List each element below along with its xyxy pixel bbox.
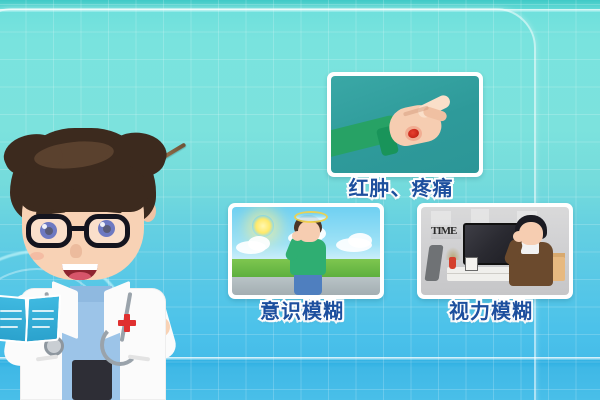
glasses-lens-right [84, 214, 130, 248]
book-text-line [0, 318, 22, 320]
symptom-card-left[interactable] [228, 203, 384, 299]
doctor-character [0, 128, 185, 400]
tv-stand [447, 267, 513, 281]
book-text-line [32, 318, 54, 320]
man-hand-rubbing-eye [513, 231, 525, 242]
symptom-label-left: 意识模糊 [228, 295, 376, 324]
scene-hand-sting [331, 76, 479, 173]
sun-icon [252, 215, 274, 237]
doctor-tongue [69, 272, 91, 280]
symptom-label-right: 视力模糊 [417, 295, 565, 324]
symptom-card-top[interactable] [327, 72, 483, 177]
doctor-teeth [62, 264, 98, 270]
book-text-line [32, 326, 50, 328]
glasses-bridge [70, 226, 88, 231]
wall-panel [471, 209, 489, 223]
book-text-line [0, 310, 22, 312]
open-book-icon [0, 292, 60, 344]
scene-living-room-eye-rub: TIME [421, 207, 569, 295]
red-vase [449, 257, 456, 269]
glasses-lens-left [26, 214, 72, 248]
eyeglasses-icon [26, 214, 142, 248]
book-text-line [0, 326, 18, 328]
doctor-cheek-blush [30, 252, 44, 260]
cloud-shape [348, 233, 372, 248]
red-cross-icon [118, 314, 136, 332]
doctor-trousers [72, 360, 112, 400]
wall-sign-text: TIME [431, 225, 461, 239]
tv-stand-line [447, 273, 513, 274]
scene-outdoor-dizzy [232, 207, 380, 295]
infographic-canvas: 红肿、疼痛 意识模糊 TIME [0, 0, 600, 400]
cloud-shape [248, 236, 270, 251]
person-legs [294, 272, 322, 295]
person-hand [292, 231, 303, 241]
picture-frame [465, 257, 478, 271]
doctor-nose [70, 244, 82, 258]
book-text-line [32, 310, 54, 312]
dizziness-swirl-icon [294, 211, 328, 223]
symptom-label-top: 红肿、疼痛 [327, 172, 475, 201]
chair-back [424, 245, 443, 281]
symptom-card-right[interactable]: TIME [417, 203, 573, 299]
